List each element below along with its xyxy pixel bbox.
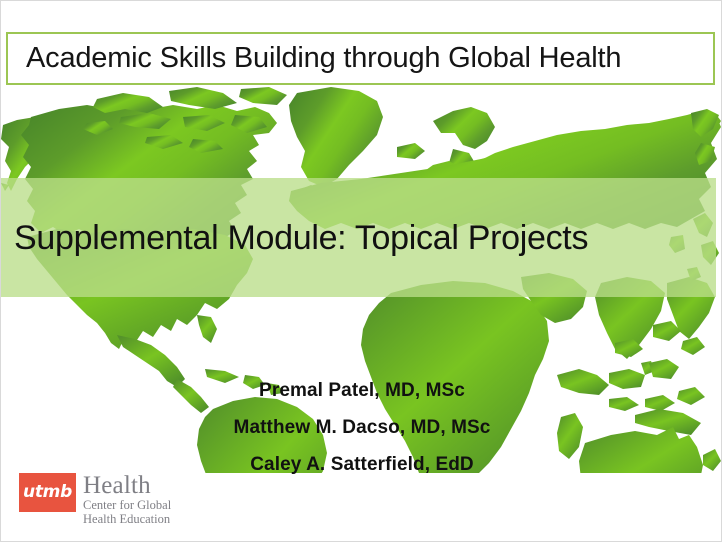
subtitle-band: Supplemental Module: Topical Projects bbox=[1, 178, 716, 297]
slide-subtitle: Supplemental Module: Topical Projects bbox=[1, 221, 588, 255]
presentation-slide: Academic Skills Building through Global … bbox=[0, 0, 722, 542]
logo-tagline-line-1: Center for Global bbox=[83, 498, 171, 512]
logo-health-text: Health bbox=[83, 474, 171, 498]
slide-title-box: Academic Skills Building through Global … bbox=[6, 32, 715, 85]
utmb-wordmark-text: utmb bbox=[23, 484, 72, 501]
logo-tagline-line-2: Health Education bbox=[83, 512, 171, 526]
utmb-health-logo: utmb Health Center for Global Health Edu… bbox=[19, 473, 171, 526]
author-list: Premal Patel, MD, MSc Matthew M. Dacso, … bbox=[1, 381, 722, 474]
page-title: Academic Skills Building through Global … bbox=[8, 44, 621, 73]
utmb-logo-mark: utmb bbox=[19, 473, 76, 512]
author-name: Premal Patel, MD, MSc bbox=[1, 381, 722, 400]
logo-wordmark-block: Health Center for Global Health Educatio… bbox=[83, 473, 171, 526]
author-name: Matthew M. Dacso, MD, MSc bbox=[1, 418, 722, 437]
